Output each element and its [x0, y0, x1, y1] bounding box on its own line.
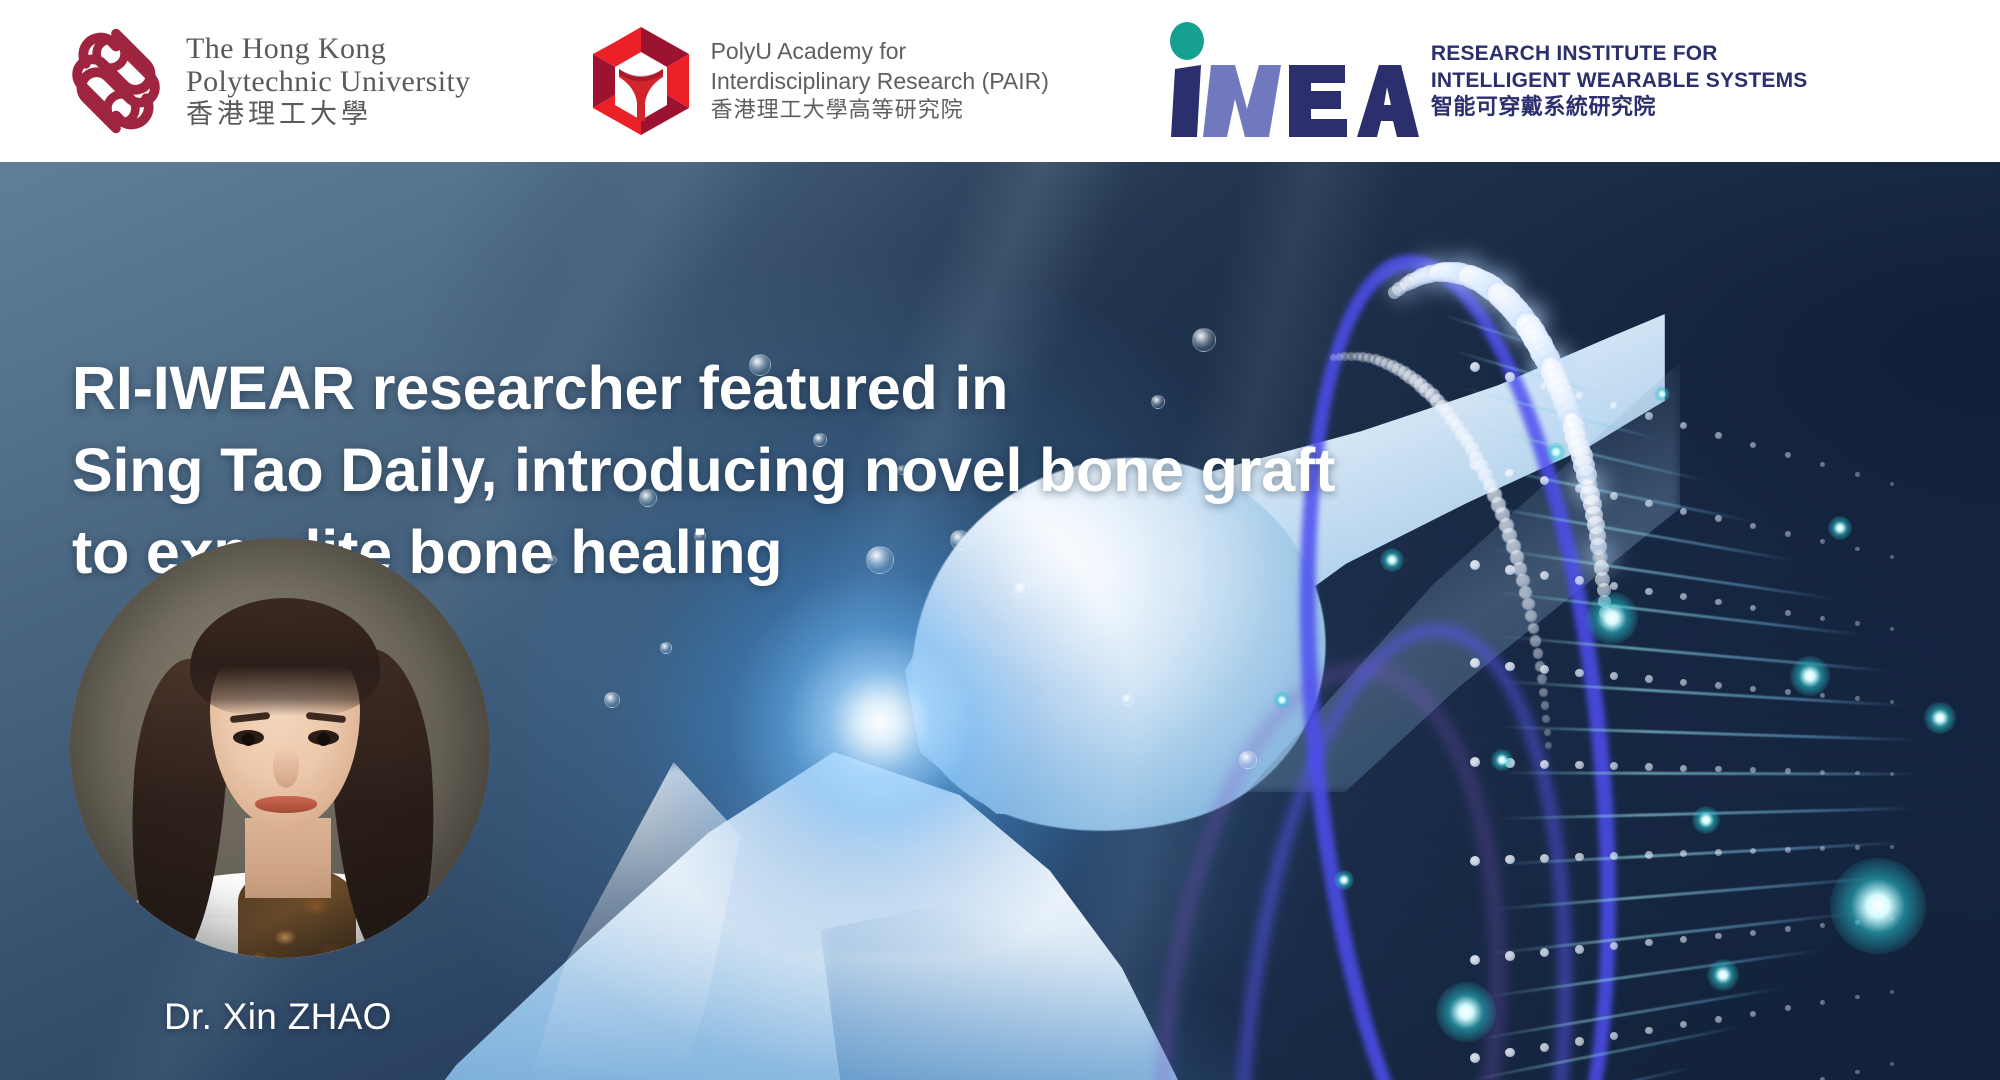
dna-base-pair-bead [1470, 955, 1480, 965]
dna-base-pair-bead [1890, 772, 1894, 776]
dna-base-pair-bead [1785, 847, 1791, 853]
dna-base-pair-bead [1890, 555, 1894, 559]
dna-base-pair-bead [1715, 766, 1722, 773]
dna-base-pair-bead [1540, 571, 1549, 580]
avatar [70, 538, 490, 958]
air-bubble [1122, 694, 1134, 706]
dna-base-pair-bead [1505, 951, 1515, 961]
dna-base-pair-bead [1470, 757, 1480, 767]
logo-header-bar: The Hong Kong Polytechnic University 香港理… [0, 0, 2000, 162]
polyu-wordmark: The Hong Kong Polytechnic University 香港理… [186, 32, 471, 131]
dna-base-pair-bead [1785, 768, 1791, 774]
dna-base-pair-bead [1750, 523, 1756, 529]
dna-base-pair-bead [1715, 933, 1722, 940]
dna-base-pair-bead [1470, 856, 1480, 866]
dna-base-pair-bead [1750, 605, 1756, 611]
dna-nucleotide-dot [1535, 661, 1545, 671]
dna-base-pair-bead [1470, 658, 1480, 668]
dna-base-pair-bead [1820, 462, 1825, 467]
dna-nucleotide-dot [1519, 586, 1532, 599]
dna-base-pair-bead [1750, 767, 1756, 773]
dna-base-pair-bead [1785, 689, 1791, 695]
dna-base-pair-bead [1890, 627, 1894, 631]
dna-base-pair-bead [1505, 469, 1515, 479]
dna-base-pair [1500, 725, 1917, 741]
dna-base-pair-bead [1855, 621, 1860, 626]
dna-base-pair [1499, 680, 1907, 707]
dna-base-pair-bead [1820, 616, 1825, 621]
dna-base-pair-bead [1855, 1070, 1860, 1075]
iwear-wordmark-icon [1161, 21, 1419, 141]
pair-line-2: Interdisciplinary Research (PAIR) [711, 66, 1049, 96]
dna-base-pair-bead [1645, 500, 1653, 508]
dna-base-pair-bead [1680, 508, 1687, 515]
news-banner-graphic: The Hong Kong Polytechnic University 香港理… [0, 0, 2000, 1080]
pair-line-1: PolyU Academy for [711, 36, 1049, 66]
dna-base-pair [1492, 876, 1882, 911]
dna-base-pair-bead [1645, 412, 1653, 420]
dna-base-pair-bead [1575, 576, 1584, 585]
dna-base-pair-bead [1505, 855, 1515, 865]
dna-base-pair [1496, 841, 1903, 866]
dna-base-pair-bead [1750, 930, 1756, 936]
dna-base-pair-bead [1505, 1048, 1515, 1058]
dna-nucleotide-dot [1522, 598, 1535, 611]
dna-base-pair-bead [1610, 762, 1618, 770]
dna-base-pair-bead [1820, 693, 1825, 698]
air-bubble [1239, 751, 1257, 769]
polyu-line-1: The Hong Kong [186, 32, 471, 65]
glow-particle [1436, 982, 1496, 1042]
dna-base-pair-bead [1855, 995, 1860, 1000]
dna-base-pair-bead [1645, 1027, 1653, 1035]
dna-base-pair-bead [1715, 432, 1722, 439]
dna-base-pair-bead [1785, 926, 1791, 932]
dna-base-pair-bead [1575, 945, 1584, 954]
dna-base-pair-bead [1750, 1011, 1756, 1017]
glow-particle [1692, 806, 1720, 834]
polyu-logo: The Hong Kong Polytechnic University 香港理… [62, 25, 471, 137]
dna-nucleotide-dot [1530, 635, 1541, 646]
dna-base-pair-bead [1680, 850, 1687, 857]
dna-nucleotide-dot [1516, 574, 1529, 587]
dna-base-pair-bead [1820, 539, 1825, 544]
dna-base-pair-bead [1470, 1053, 1480, 1063]
iwear-line-zh: 智能可穿戴系統研究院 [1431, 94, 1808, 122]
dna-base-pair-bead [1680, 936, 1687, 943]
glow-particle [1334, 870, 1354, 890]
iwear-wordmark-text: RESEARCH INSTITUTE FOR INTELLIGENT WEARA… [1431, 40, 1808, 122]
dna-base-pair-bead [1785, 452, 1791, 458]
dna-base-pair-bead [1890, 1062, 1894, 1066]
dna-base-pair-bead [1470, 362, 1480, 372]
dna-helix-icon [1290, 292, 2000, 1080]
dna-base-pair-bead [1820, 770, 1825, 775]
dna-base-pair-bead [1855, 547, 1860, 552]
polyu-line-2: Polytechnic University [186, 65, 471, 98]
iwear-line-1: RESEARCH INSTITUTE FOR [1431, 40, 1808, 67]
pair-wordmark: PolyU Academy for Interdisciplinary Rese… [711, 36, 1049, 126]
dna-base-pair-bead [1820, 1000, 1825, 1005]
pair-cube-icon [589, 25, 693, 137]
dna-base-pair-bead [1680, 1021, 1687, 1028]
dna-base-pair-bead [1680, 679, 1687, 686]
dna-base-pair-bead [1540, 760, 1549, 769]
dna-base-pair-bead [1715, 599, 1722, 606]
dna-base-pair-bead [1855, 845, 1860, 850]
dna-base-pair-bead [1890, 845, 1894, 849]
dna-base-pair-bead [1750, 848, 1756, 854]
glow-particle [1546, 442, 1566, 462]
dna-base-pair-bead [1645, 588, 1653, 596]
portrait-vignette [70, 538, 490, 958]
dna-base-pair-bead [1680, 422, 1687, 429]
dna-base-pair-bead [1610, 672, 1618, 680]
dna-base-pair-bead [1540, 476, 1549, 485]
dna-base-pair-bead [1610, 492, 1618, 500]
dna-base-pair-bead [1610, 402, 1618, 410]
researcher-portrait-wrap [70, 538, 490, 958]
dna-base-pair-bead [1610, 1032, 1618, 1040]
dna-base-pair-bead [1820, 923, 1825, 928]
dna-base-pair-bead [1890, 700, 1894, 704]
glow-particle [1790, 656, 1830, 696]
glow-particle [1273, 691, 1291, 709]
dna-base-pair-bead [1715, 682, 1722, 689]
dna-base-pair-bead [1610, 942, 1618, 950]
portrait-caption: Dr. Xin ZHAO [164, 996, 392, 1038]
dna-base-pair-bead [1540, 1043, 1549, 1052]
iwear-line-2: INTELLIGENT WEARABLE SYSTEMS [1431, 67, 1808, 94]
glow-particle [1380, 548, 1404, 572]
dna-base-pair-bead [1610, 852, 1618, 860]
dna-base-pair-bead [1540, 948, 1549, 957]
headline-line-1: RI-IWEAR researcher featured in [72, 347, 1335, 429]
dna-base-pair-bead [1645, 851, 1653, 859]
dna-base-pair-bead [1855, 771, 1860, 776]
dna-base-pair-bead [1645, 763, 1653, 771]
dna-base-pair-bead [1785, 531, 1791, 537]
dna-base-pair-bead [1855, 472, 1860, 477]
dna-base-pair-bead [1855, 696, 1860, 701]
dna-base-pair-rungs [1290, 292, 2000, 1080]
dna-base-pair-bead [1890, 990, 1894, 994]
iwear-logo: RESEARCH INSTITUTE FOR INTELLIGENT WEARA… [1161, 21, 1808, 141]
dna-base-pair-bead [1890, 482, 1894, 486]
glow-particle [1654, 386, 1670, 402]
dna-nucleotide-dot [1537, 674, 1547, 684]
dna-base-pair-bead [1575, 761, 1584, 770]
dna-base-pair-bead [1575, 1037, 1584, 1046]
dna-base-pair-bead [1610, 582, 1618, 590]
glow-particle [1707, 959, 1739, 991]
polyu-knot-icon [62, 25, 170, 137]
dna-base-pair-bead [1785, 1005, 1791, 1011]
dna-base-pair-bead [1715, 1016, 1722, 1023]
air-bubble [604, 692, 620, 708]
polyu-line-zh: 香港理工大學 [186, 98, 471, 131]
dna-base-pair-bead [1575, 853, 1584, 862]
glow-particle [1491, 749, 1513, 771]
dna-base-pair-bead [1715, 849, 1722, 856]
dna-base-pair-bead [1785, 610, 1791, 616]
pair-logo: PolyU Academy for Interdisciplinary Rese… [589, 25, 1049, 137]
dna-base-pair-bead [1470, 560, 1480, 570]
dna-base-pair-bead [1505, 372, 1515, 382]
pair-line-zh: 香港理工大學高等研究院 [711, 96, 1049, 126]
dna-base-pair-bead [1820, 846, 1825, 851]
glow-particle [1586, 592, 1638, 644]
dna-base-pair-bead [1715, 515, 1722, 522]
headline-line-2: Sing Tao Daily, introducing novel bone g… [72, 429, 1335, 511]
dna-base-pair-bead [1575, 669, 1584, 678]
dna-base-pair [1496, 635, 1888, 673]
glow-particle [1830, 858, 1926, 954]
dna-base-pair-bead [1540, 854, 1549, 863]
glow-particle [1924, 702, 1956, 734]
dna-base-pair-bead [1645, 675, 1653, 683]
dna-base-pair-bead [1750, 686, 1756, 692]
dna-base-pair-bead [1680, 593, 1687, 600]
dna-base-pair [1476, 986, 1785, 1041]
glow-particle [1828, 516, 1852, 540]
dna-base-pair-bead [1680, 765, 1687, 772]
dna-base-pair-bead [1750, 442, 1756, 448]
air-bubble [660, 642, 672, 654]
dna-base-pair-bead [1505, 662, 1515, 672]
dna-base-pair [1493, 590, 1864, 636]
dna-nucleotide-dot [1539, 688, 1548, 697]
dna-base-pair-bead [1645, 939, 1653, 947]
